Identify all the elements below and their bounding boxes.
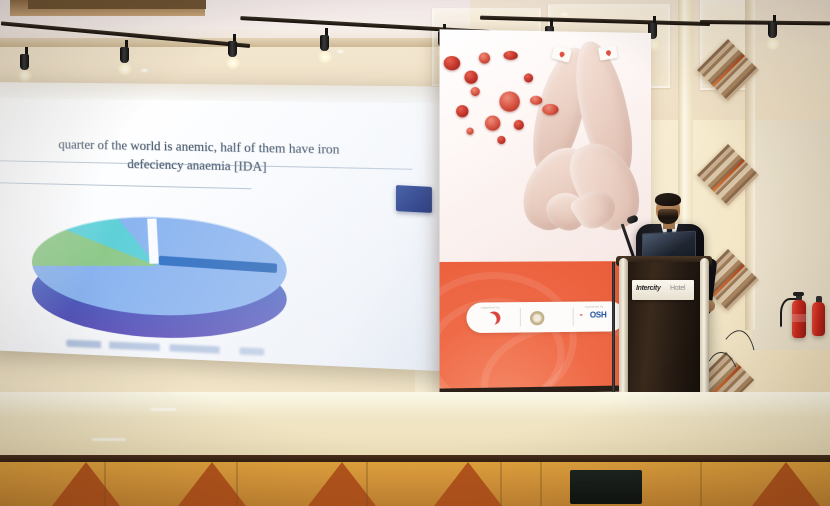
blood-cell xyxy=(464,70,477,83)
red-crescent-icon xyxy=(485,309,502,326)
stage-front-vent xyxy=(570,470,642,504)
podium-brand-hotel: Hotel xyxy=(670,285,685,292)
blood-cell xyxy=(444,56,461,71)
ceiling-downlight xyxy=(336,49,345,54)
arabic-seal-icon xyxy=(530,311,544,325)
sponsor-arabic-text xyxy=(546,312,568,316)
osh-mark-dots: •• xyxy=(580,313,582,319)
stage-front-panel xyxy=(0,462,830,506)
ceiling-recess xyxy=(10,0,205,16)
blood-cell xyxy=(530,96,542,105)
sponsor-caption: supported by xyxy=(585,305,604,308)
spotlight xyxy=(768,15,780,50)
blood-cell xyxy=(503,51,517,60)
sponsor-caption: organised by xyxy=(481,306,500,309)
blood-cell xyxy=(466,128,473,135)
ceiling-downlight xyxy=(140,68,149,73)
screen-side-marker xyxy=(396,185,432,213)
osh-logo-subtext xyxy=(587,322,588,325)
blood-cell xyxy=(485,115,500,130)
ceiling-recess-inner xyxy=(28,0,206,9)
podium-brand-subtext xyxy=(672,293,673,297)
blood-cell xyxy=(497,136,505,144)
pie-chart xyxy=(6,190,307,354)
blood-cell xyxy=(471,87,480,96)
stage-floor-marking xyxy=(150,408,176,411)
blood-cell xyxy=(524,73,533,82)
spotlight xyxy=(320,28,332,63)
blood-cell xyxy=(499,91,519,111)
osh-logo-text: OSH xyxy=(590,310,607,319)
speaker-beard xyxy=(658,209,678,224)
mic-stand-pole xyxy=(612,262,615,410)
spotlight xyxy=(228,34,240,69)
conference-hall-photo: quarter of the world is anemic, half of … xyxy=(0,0,830,506)
blood-cell xyxy=(542,104,558,115)
projection-screen: quarter of the world is anemic, half of … xyxy=(0,82,450,372)
stage-floor-marking xyxy=(92,438,126,441)
spotlight xyxy=(20,47,32,82)
podium-brand-intercity: Intercity xyxy=(636,285,661,292)
blood-cell xyxy=(456,105,468,117)
fire-extinguisher-group xyxy=(780,292,826,356)
sponsor-subtext xyxy=(479,327,514,331)
spotlight xyxy=(120,40,132,75)
blood-cell xyxy=(514,120,524,130)
sponsor-logo-pill: organised by supported by •• OSH xyxy=(466,301,625,333)
podium-brand-plaque: Intercity Hotel xyxy=(632,280,694,300)
speaker-hair xyxy=(655,193,681,206)
blood-cell xyxy=(479,52,490,63)
stage-floor-sheen xyxy=(0,392,830,418)
